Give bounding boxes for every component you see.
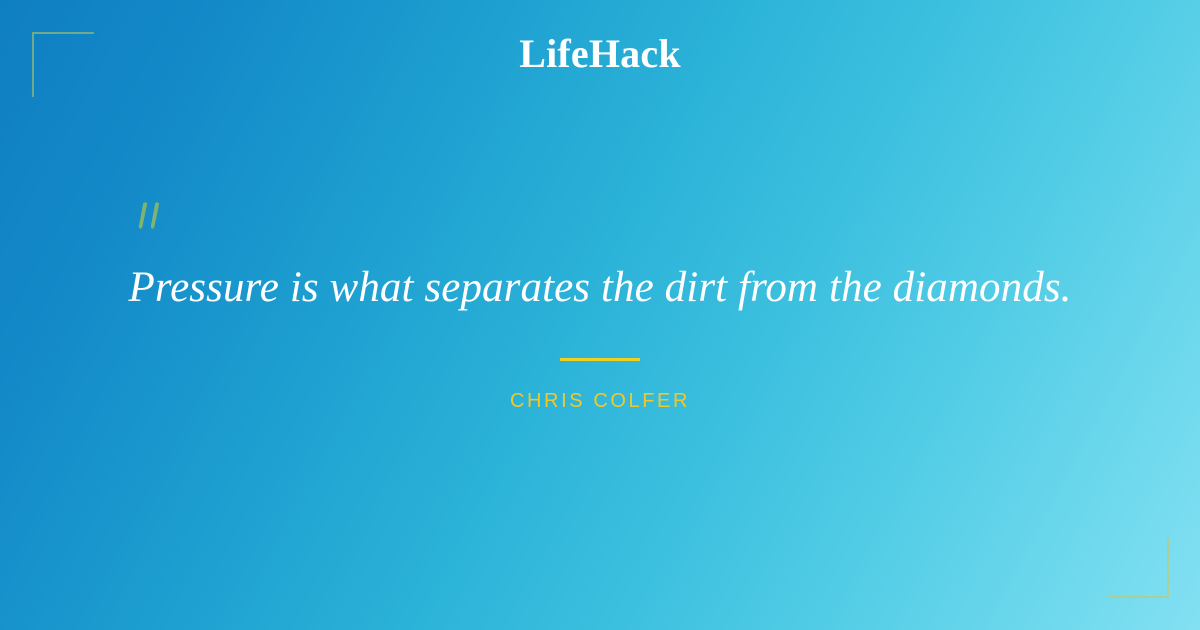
divider-container: [0, 358, 1200, 361]
divider-rule: [560, 358, 640, 361]
quote-text: Pressure is what separates the dirt from…: [100, 262, 1100, 314]
quote-author: CHRIS COLFER: [0, 389, 1200, 413]
quote-open-icon: [131, 198, 175, 242]
corner-bracket-bottom-right-icon: [1107, 538, 1169, 598]
brand-logo: LifeHack: [0, 34, 1200, 74]
quote-card: LifeHack Pressure is what separates the …: [0, 0, 1200, 630]
